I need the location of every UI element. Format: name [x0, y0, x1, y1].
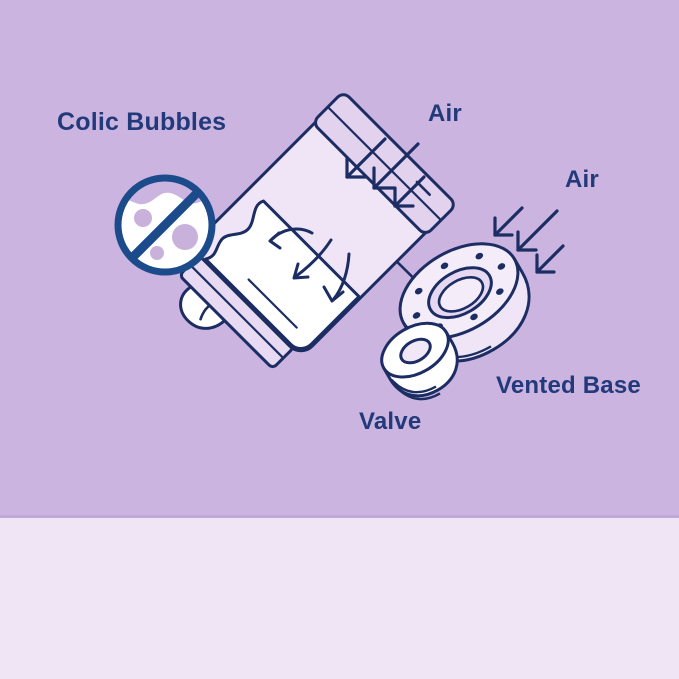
caption-panel: Reduces Colic and Gas Patented Anti-Coli…: [0, 518, 679, 679]
label-air-right: Air: [565, 166, 599, 194]
product-feature-infographic: Colic Bubbles Air Air Valve Vented Base …: [0, 0, 679, 679]
diagram-panel: Colic Bubbles Air Air Valve Vented Base: [0, 0, 679, 515]
label-colic-bubbles: Colic Bubbles: [57, 108, 226, 137]
label-valve: Valve: [359, 408, 421, 436]
anti-colic-diagram: [0, 0, 679, 515]
label-air-left: Air: [428, 100, 462, 128]
label-vented-base: Vented Base: [496, 372, 641, 400]
